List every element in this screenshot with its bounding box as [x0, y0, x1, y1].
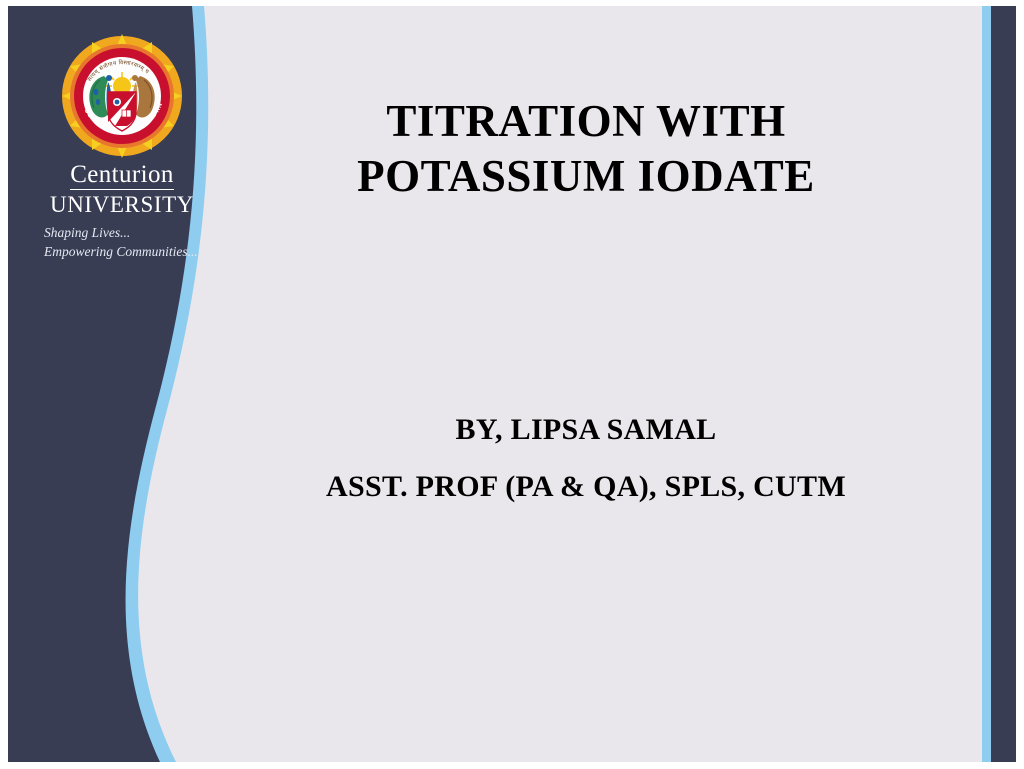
university-subname: UNIVERSITY [38, 192, 206, 218]
slide-title-line-1: TITRATION WITH [236, 94, 936, 149]
author-affiliation-line: ASST. PROF (PA & QA), SPLS, CUTM [236, 458, 936, 515]
author-name-line: BY, LIPSA SAMAL [236, 401, 936, 458]
right-light-blue-band [982, 6, 991, 762]
university-logo-block: CONNECTING THROUGH KNOWLEDGE सत्यम् संयो… [38, 34, 206, 261]
slide-canvas: CONNECTING THROUGH KNOWLEDGE सत्यम् संयो… [8, 6, 1016, 762]
tagline-line-1: Shaping Lives... [44, 224, 206, 242]
slide-author-block: BY, LIPSA SAMAL ASST. PROF (PA & QA), SP… [236, 401, 936, 515]
slide-title-line-2: POTASSIUM IODATE [236, 149, 936, 204]
tagline-line-2: Empowering Communities... [44, 243, 206, 261]
right-navy-band [991, 6, 1016, 762]
university-name: Centurion [70, 162, 174, 190]
presentation-slide: CONNECTING THROUGH KNOWLEDGE सत्यम् संयो… [0, 0, 1024, 769]
slide-title: TITRATION WITH POTASSIUM IODATE [236, 94, 936, 204]
university-emblem-icon: CONNECTING THROUGH KNOWLEDGE सत्यम् संयो… [60, 34, 184, 158]
university-tagline: Shaping Lives... Empowering Communities.… [38, 224, 206, 260]
